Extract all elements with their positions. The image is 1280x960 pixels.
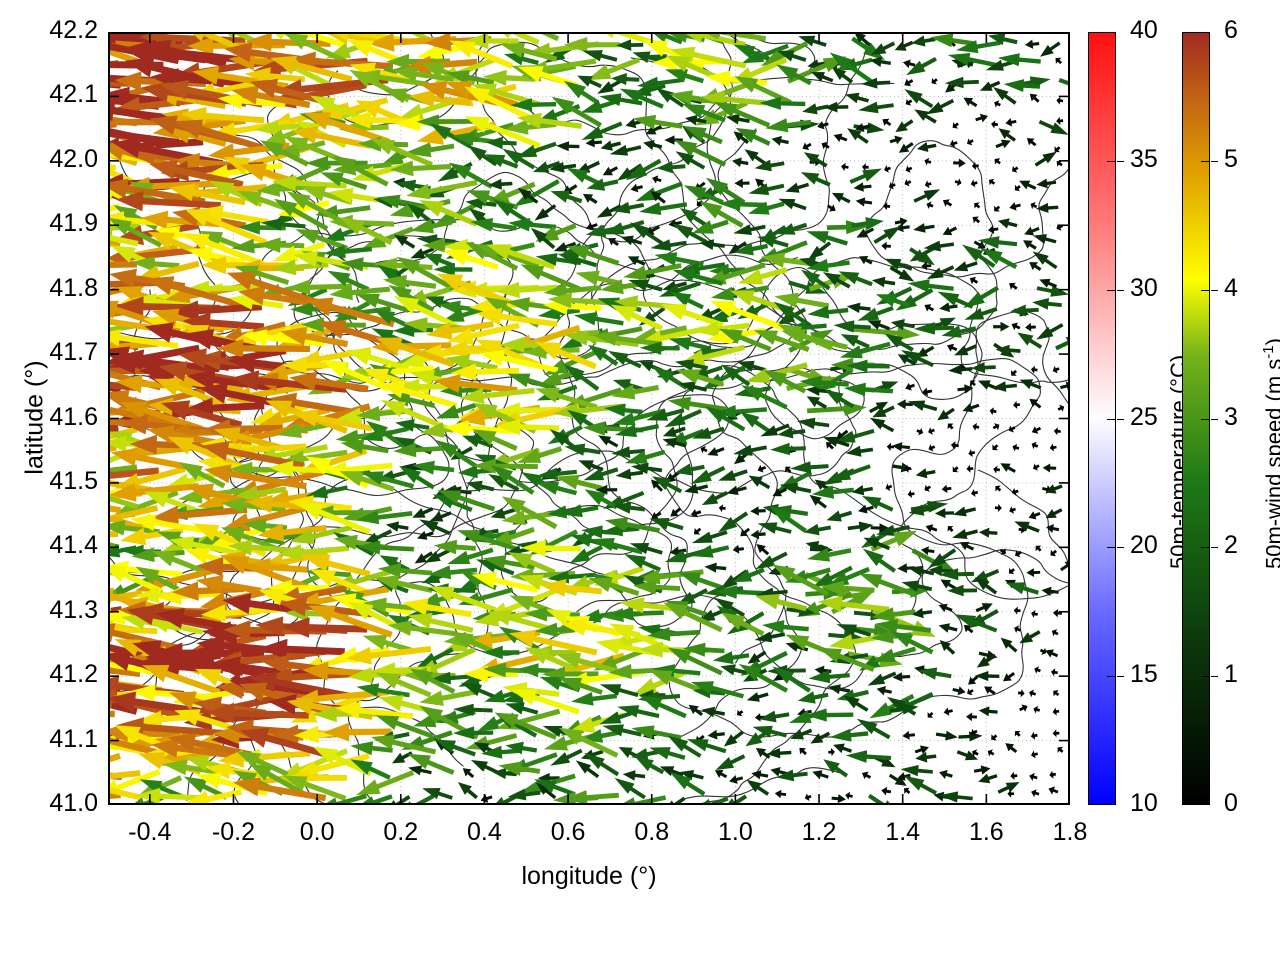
wind-arrow [1019, 704, 1028, 712]
wind-arrow [564, 37, 621, 53]
wind-arrow [1009, 202, 1021, 211]
x-tick-label: -0.2 [188, 818, 278, 847]
wind-arrow [718, 469, 748, 481]
wind-arrow [1037, 285, 1068, 297]
wind-arrow [868, 794, 902, 803]
wind-arrow [963, 403, 980, 412]
wind-arrow [1005, 118, 1016, 127]
wind-arrow [947, 344, 958, 352]
wind-arrow [833, 744, 852, 754]
wind-arrow [1040, 42, 1061, 57]
wind-arrow [652, 175, 662, 183]
wind-arrow [735, 179, 750, 189]
wind-arrow [868, 672, 897, 686]
wind-arrow [826, 511, 852, 522]
wind-arrow [988, 749, 995, 756]
wind-arrow [993, 322, 1009, 332]
wind-arrow [434, 540, 476, 555]
wind-arrow [1058, 747, 1064, 753]
wind-arrow [892, 442, 910, 451]
wind-arrow [939, 623, 958, 633]
wind-arrow [668, 397, 727, 412]
wind-arrow [551, 191, 583, 204]
wind-arrow [1043, 464, 1057, 473]
x-tick-label: 0.8 [607, 818, 697, 847]
wind-arrow [915, 746, 929, 755]
y-tick-label: 41.0 [0, 789, 98, 818]
wind-arrow [1039, 120, 1068, 135]
wind-arrow [750, 506, 766, 515]
wind-arrow [873, 647, 917, 663]
wind-arrow [616, 469, 644, 480]
wind-arrow [808, 241, 831, 259]
wind-arrow [942, 485, 952, 493]
wind-arrow [689, 705, 703, 716]
wind-arrow [928, 427, 935, 435]
wind-arrow [1017, 333, 1042, 349]
wind-arrow [978, 774, 997, 784]
wind-arrow [927, 201, 934, 209]
wind-arrow [852, 485, 873, 495]
wind-arrow [948, 365, 972, 375]
y-tick-label: 41.6 [0, 403, 98, 432]
wind-arrow [1045, 649, 1058, 657]
wind-arrow [1019, 181, 1036, 190]
colorbar-tick-label: 20 [1130, 531, 1158, 560]
wind-arrow [1027, 138, 1037, 146]
wind-arrow [953, 159, 966, 168]
wind-arrow [1012, 166, 1019, 173]
wind-arrow [755, 160, 785, 171]
wind-arrow [1049, 771, 1056, 779]
colorbar-tick-label: 30 [1130, 274, 1158, 303]
wind-arrow [992, 381, 1017, 392]
wind-arrow [897, 399, 913, 409]
wind-arrow [707, 447, 724, 456]
wind-arrow [916, 468, 936, 478]
wind-arrow [678, 572, 724, 590]
wind-arrow [747, 780, 770, 796]
wind-arrow [1053, 690, 1059, 697]
wind-arrow [571, 692, 617, 706]
wind-arrow [1033, 463, 1040, 470]
wind-arrow [834, 134, 848, 142]
wind-arrow [995, 140, 1010, 149]
wind-arrow [854, 182, 872, 192]
wind-arrow [481, 794, 493, 802]
wind-arrow [765, 118, 811, 132]
colorbar-tick-label: 1 [1224, 660, 1238, 689]
wind-arrow [994, 100, 1001, 107]
wind-arrow [574, 312, 624, 325]
wind-arrow [964, 98, 978, 108]
wind-arrow [891, 319, 915, 330]
wind-arrow [663, 797, 686, 803]
wind-arrow [556, 141, 579, 151]
wind-arrow [974, 202, 980, 208]
wind-arrow [936, 731, 958, 741]
wind-arrow [979, 528, 998, 538]
colorbar-tick-label: 10 [1130, 789, 1158, 818]
colorbar-tick [1107, 161, 1115, 162]
wind-arrow [751, 770, 768, 779]
wind-arrow [943, 226, 957, 235]
wind-arrow [1009, 568, 1015, 574]
wind-arrow [856, 197, 873, 206]
wind-arrow [881, 787, 891, 796]
wind-arrow [718, 511, 748, 532]
wind-arrow [862, 772, 871, 780]
wind-arrow [486, 137, 517, 150]
wind-arrow [766, 748, 791, 758]
wind-arrow [954, 261, 978, 271]
wind-arrow [755, 594, 807, 611]
wind-arrow [971, 362, 995, 373]
colorbar-tick-label: 35 [1130, 145, 1158, 174]
wind-arrow [1012, 444, 1019, 452]
wind-arrow [948, 424, 954, 430]
wind-arrow [975, 114, 988, 123]
wind-arrow [895, 119, 913, 132]
wind-arrow [729, 775, 743, 784]
wind-arrow [845, 792, 853, 800]
wind-arrow [1031, 366, 1038, 374]
wind-arrow [1056, 97, 1063, 105]
wind-arrow [623, 263, 681, 280]
colorbar-tick [1117, 676, 1124, 677]
wind-arrow [724, 731, 744, 747]
colorbar-tick [1211, 676, 1218, 677]
wind-arrow [417, 531, 434, 540]
x-tick-label: 0.4 [439, 818, 529, 847]
wind-arrow [993, 466, 1000, 474]
wind-arrow [1036, 546, 1042, 552]
wind-arrow [952, 686, 965, 695]
colorbar-tick [1201, 676, 1209, 677]
wind-arrow [832, 794, 846, 803]
wind-arrow [895, 41, 914, 51]
wind-arrow [1058, 405, 1065, 412]
wind-arrow [737, 710, 743, 717]
colorbar-tick-label: 6 [1224, 16, 1238, 45]
wind-arrow [929, 444, 936, 452]
wind-arrow [807, 306, 848, 319]
wind-arrow [984, 687, 996, 695]
wind-arrow [927, 265, 955, 279]
wind-arrow [716, 754, 746, 770]
wind-arrow [1029, 262, 1041, 271]
wind-arrow [1014, 607, 1021, 615]
wind-arrow [790, 729, 812, 740]
wind-arrow [1048, 786, 1058, 794]
wind-arrow [1053, 729, 1060, 737]
wind-arrow [882, 119, 891, 126]
wind-arrow [967, 688, 974, 695]
wind-arrow [740, 412, 770, 433]
wind-arrow [904, 79, 913, 87]
wind-arrow [758, 465, 767, 473]
wind-arrow [1033, 234, 1056, 244]
wind-arrow [1031, 751, 1038, 759]
wind-arrow [822, 142, 830, 149]
x-tick-label: 0.6 [523, 818, 613, 847]
wind-arrow [1036, 323, 1063, 340]
wind-arrow [1001, 638, 1018, 653]
wind-arrow [989, 179, 995, 186]
colorbar-tick-label: 25 [1130, 403, 1158, 432]
y-tick-label: 42.1 [0, 80, 98, 109]
wind-arrow [848, 522, 874, 533]
y-tick-label: 42.0 [0, 145, 98, 174]
wind-arrow [926, 524, 938, 532]
x-tick-label: -0.4 [105, 818, 195, 847]
colorbar-tick [1201, 290, 1209, 291]
wind-arrow [1025, 40, 1039, 49]
wind-arrow [939, 604, 953, 612]
wind-arrow [967, 465, 974, 473]
wind-arrow [1009, 425, 1016, 432]
wind-arrow [1013, 401, 1020, 409]
colorbar-tick [1211, 161, 1218, 162]
wind-arrow [1032, 442, 1039, 450]
wind-arrow [639, 202, 687, 215]
wind-arrow [807, 396, 827, 409]
wind-arrow [430, 511, 452, 521]
wind-arrow [971, 179, 978, 187]
wind-arrow [932, 78, 938, 85]
wind-arrow [913, 189, 940, 203]
wind-arrow [1007, 790, 1014, 798]
wind-arrow [1024, 227, 1039, 236]
wind-arrow [939, 791, 973, 802]
wind-arrow [979, 706, 998, 716]
wind-arrow [603, 166, 618, 175]
colorbar-tick-label: 3 [1224, 403, 1238, 432]
wind-arrow [874, 226, 902, 244]
wind-arrow [733, 445, 767, 456]
y-tick-label: 41.2 [0, 660, 98, 689]
colorbar-tick [1107, 547, 1115, 548]
colorbar-tick [1201, 161, 1209, 162]
y-tick-label: 41.7 [0, 338, 98, 367]
wind-arrow [958, 731, 982, 741]
wind-arrow [751, 530, 766, 540]
wind-arrow [1031, 610, 1038, 618]
wind-arrow [762, 620, 809, 634]
wind-arrow [953, 466, 959, 472]
wind-arrow [922, 388, 933, 396]
wind-arrow [974, 765, 991, 774]
wind-arrow [948, 526, 954, 532]
wind-arrow [904, 788, 910, 794]
vector-field-canvas [110, 34, 1068, 803]
wind-arrow [886, 484, 893, 492]
colorbar-tick [1107, 676, 1115, 677]
wind-arrow [715, 770, 727, 778]
colorbar-tick [1107, 419, 1115, 420]
wind-arrow [505, 703, 538, 715]
wind-arrow [915, 752, 936, 763]
wind-arrow [1015, 185, 1021, 192]
wind-arrow [1055, 146, 1061, 152]
wind-arrow [841, 163, 849, 171]
wind-arrow [694, 528, 701, 535]
wind-arrow [976, 603, 993, 612]
wind-arrow [1059, 78, 1069, 95]
wind-arrow [906, 165, 913, 172]
colorbar-tick [1117, 419, 1124, 420]
wind-arrow [1029, 773, 1037, 781]
wind-arrow [1006, 582, 1039, 595]
wind-arrow [601, 140, 622, 150]
wind-arrow [1025, 323, 1036, 332]
colorbar-tick-label: 2 [1224, 531, 1238, 560]
wind-arrow [392, 751, 413, 763]
wind-arrow [1011, 370, 1017, 376]
wind-arrow [463, 768, 474, 778]
wind-arrow [812, 770, 829, 779]
wind-arrow [790, 461, 829, 473]
wind-arrow [872, 277, 895, 288]
wind-arrow [488, 179, 512, 190]
wind-arrow [995, 486, 1001, 492]
wind-arrow [890, 136, 903, 145]
wind-arrow [925, 180, 932, 188]
y-tick-label: 41.9 [0, 209, 98, 238]
wind-arrow [908, 490, 915, 498]
wind-arrow [1030, 94, 1040, 103]
wind-arrow [1014, 521, 1039, 532]
colorbar-title-windspeed: 50m-wind speed (m s-1) [1260, 338, 1280, 569]
wind-arrow [877, 686, 892, 695]
wind-arrow [1060, 561, 1068, 571]
x-axis-title: longitude (°) [469, 862, 709, 891]
wind-arrow [968, 449, 975, 457]
wind-arrow [905, 383, 915, 391]
wind-arrow [998, 218, 1018, 228]
wind-arrow [1055, 336, 1068, 350]
wind-arrow [937, 408, 955, 421]
x-tick-label: 0.2 [356, 818, 446, 847]
x-tick-label: 0.0 [272, 818, 362, 847]
wind-arrow [998, 782, 1020, 794]
y-tick-label: 41.4 [0, 531, 98, 560]
wind-arrow [770, 443, 806, 455]
wind-arrow [802, 143, 811, 151]
wind-arrow [1029, 399, 1041, 409]
x-tick-label: 1.0 [690, 818, 780, 847]
colorbar-tick [1211, 547, 1218, 548]
wind-arrow [845, 93, 869, 104]
wind-arrow [636, 757, 665, 774]
contour-path [911, 550, 1068, 612]
wind-arrow [719, 504, 726, 512]
wind-arrow [847, 303, 871, 313]
wind-arrow [1050, 550, 1057, 556]
wind-arrow [1034, 666, 1041, 674]
wind-arrow [1060, 382, 1068, 391]
wind-arrow [1056, 117, 1063, 125]
wind-arrow [944, 707, 953, 715]
wind-arrow [1052, 629, 1059, 636]
wind-arrow [1031, 789, 1039, 797]
wind-arrow [913, 223, 935, 233]
wind-arrow [1000, 548, 1006, 555]
y-tick-label: 42.2 [0, 16, 98, 45]
wind-arrow [870, 57, 891, 67]
wind-arrow [1053, 366, 1060, 374]
wind-arrow [953, 122, 959, 128]
colorbar-tick-label: 0 [1224, 789, 1238, 818]
wind-arrow [903, 59, 915, 68]
wind-arrow [631, 184, 643, 193]
wind-arrow [1039, 279, 1057, 288]
colorbar-tick-label: 5 [1224, 145, 1238, 174]
wind-arrow [1050, 444, 1057, 452]
wind-arrow [772, 136, 789, 146]
wind-arrow [1003, 672, 1015, 681]
wind-arrow [902, 731, 915, 740]
wind-arrow [993, 423, 1000, 430]
wind-arrow [995, 504, 1002, 512]
wind-arrow [952, 529, 978, 539]
wind-arrow [805, 793, 812, 801]
wind-arrow [1000, 463, 1016, 473]
wind-arrow [657, 161, 686, 173]
wind-arrow [884, 165, 891, 173]
colorbar-tick [1211, 290, 1218, 291]
wind-arrow [844, 696, 869, 712]
wind-arrow [999, 128, 1017, 141]
wind-arrow [973, 423, 980, 431]
colorbar-tick [1201, 419, 1209, 420]
wind-arrow [935, 508, 954, 518]
wind-arrow [461, 683, 496, 699]
x-tick-label: 1.2 [774, 818, 864, 847]
wind-arrow [973, 217, 981, 224]
wind-arrow [1012, 323, 1021, 331]
wind-arrow [991, 120, 998, 128]
x-tick-label: 1.6 [941, 818, 1031, 847]
wind-arrow [1036, 179, 1056, 189]
wind-arrow [732, 157, 749, 167]
colorbar-tick-label: 40 [1130, 16, 1158, 45]
wind-arrow [906, 57, 937, 75]
wind-arrow [906, 99, 913, 106]
wind-arrow [991, 734, 997, 740]
wind-arrow [702, 491, 728, 505]
wind-arrow [394, 235, 415, 249]
colorbar-tick [1117, 290, 1124, 291]
wind-arrow [1053, 609, 1062, 617]
colorbar-tick [1201, 547, 1209, 548]
wind-arrow [704, 563, 726, 573]
wind-arrow [1029, 511, 1041, 519]
wind-arrow [1015, 731, 1021, 737]
wind-arrow [990, 407, 997, 415]
wind-arrow [1035, 152, 1057, 167]
x-tick-label: 1.4 [858, 818, 948, 847]
wind-arrow [975, 671, 1000, 681]
wind-arrow [970, 277, 978, 284]
wind-arrow [726, 486, 747, 495]
wind-arrow [925, 485, 932, 492]
wind-arrow [583, 194, 598, 204]
wind-arrow [747, 692, 769, 702]
wind-arrow [905, 179, 912, 186]
y-tick-label: 41.8 [0, 274, 98, 303]
wind-arrow [824, 102, 848, 113]
